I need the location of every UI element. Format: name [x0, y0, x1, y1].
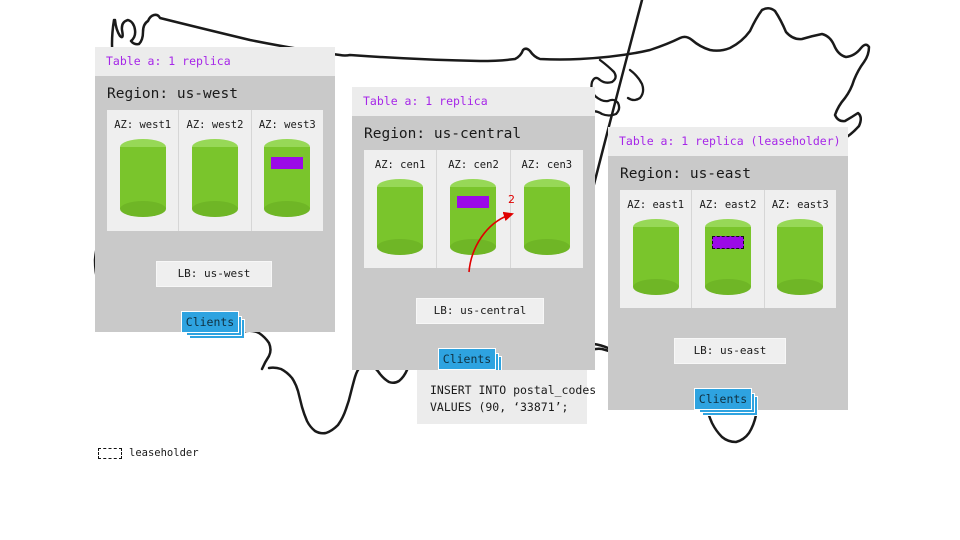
clients-stack-us-west[interactable]: Clients: [181, 311, 249, 341]
az-row-us-central: AZ: cen1 AZ: cen2: [364, 150, 583, 268]
node-cylinder-cen2: [450, 179, 496, 255]
az-cell-cen1[interactable]: AZ: cen1: [364, 150, 437, 268]
load-balancer-us-east[interactable]: LB: us-east: [674, 338, 786, 364]
clients-label-us-east: Clients: [694, 388, 752, 410]
node-cylinder-west3: [264, 139, 310, 217]
node-cylinder-west1: [120, 139, 166, 217]
region-header-us-central: Table a: 1 replica: [352, 87, 595, 116]
clients-label-us-west: Clients: [181, 311, 239, 333]
node-cylinder-east3: [777, 219, 823, 295]
node-cylinder-east2: [705, 219, 751, 295]
az-label-east3: AZ: east3: [772, 199, 829, 211]
load-balancer-us-central[interactable]: LB: us-central: [416, 298, 544, 324]
az-label-cen1: AZ: cen1: [375, 159, 426, 171]
legend-leaseholder: leaseholder: [98, 447, 199, 459]
az-cell-east2[interactable]: AZ: east2: [692, 190, 764, 308]
az-row-us-east: AZ: east1 AZ: east2: [620, 190, 836, 308]
replica-block-west3: [271, 157, 303, 169]
az-cell-west2[interactable]: AZ: west2: [179, 110, 251, 231]
az-cell-east3[interactable]: AZ: east3: [765, 190, 836, 308]
load-balancer-us-west[interactable]: LB: us-west: [156, 261, 272, 287]
region-title-us-east: Region: us-east: [608, 156, 848, 190]
az-label-west3: AZ: west3: [259, 119, 316, 131]
sql-statement-box: INSERT INTO postal_codes VALUES (90, ‘33…: [417, 370, 587, 424]
region-header-us-west: Table a: 1 replica: [95, 47, 335, 76]
replica-block-east2-leaseholder: [712, 236, 744, 249]
az-cell-west3[interactable]: AZ: west3: [252, 110, 323, 231]
az-cell-west1[interactable]: AZ: west1: [107, 110, 179, 231]
az-label-west1: AZ: west1: [114, 119, 171, 131]
az-label-cen3: AZ: cen3: [522, 159, 573, 171]
diagram-canvas: Table a: 1 replica Region: us-west AZ: w…: [0, 0, 960, 540]
node-cylinder-cen3: [524, 179, 570, 255]
node-cylinder-west2: [192, 139, 238, 217]
az-cell-cen2[interactable]: AZ: cen2: [437, 150, 510, 268]
legend-label: leaseholder: [129, 447, 199, 459]
region-title-us-west: Region: us-west: [95, 76, 335, 110]
leaseholder-swatch-icon: [98, 448, 122, 459]
clients-stack-us-east[interactable]: Clients: [694, 388, 762, 418]
region-panel-us-central: Table a: 1 replica Region: us-central AZ…: [352, 87, 595, 370]
az-cell-cen3[interactable]: AZ: cen3: [511, 150, 583, 268]
az-row-us-west: AZ: west1 AZ: west2: [107, 110, 323, 231]
node-cylinder-east1: [633, 219, 679, 295]
region-panel-us-west: Table a: 1 replica Region: us-west AZ: w…: [95, 47, 335, 332]
region-title-us-central: Region: us-central: [352, 116, 595, 150]
az-label-east1: AZ: east1: [627, 199, 684, 211]
clients-label-us-central: Clients: [438, 348, 496, 370]
az-label-west2: AZ: west2: [187, 119, 244, 131]
node-cylinder-cen1: [377, 179, 423, 255]
region-panel-us-east: Table a: 1 replica (leaseholder) Region:…: [608, 127, 848, 410]
az-cell-east1[interactable]: AZ: east1: [620, 190, 692, 308]
region-header-us-east: Table a: 1 replica (leaseholder): [608, 127, 848, 156]
routing-arrow-label: 2: [508, 193, 515, 206]
az-label-cen2: AZ: cen2: [448, 159, 499, 171]
replica-block-cen2: [457, 196, 489, 208]
az-label-east2: AZ: east2: [700, 199, 757, 211]
